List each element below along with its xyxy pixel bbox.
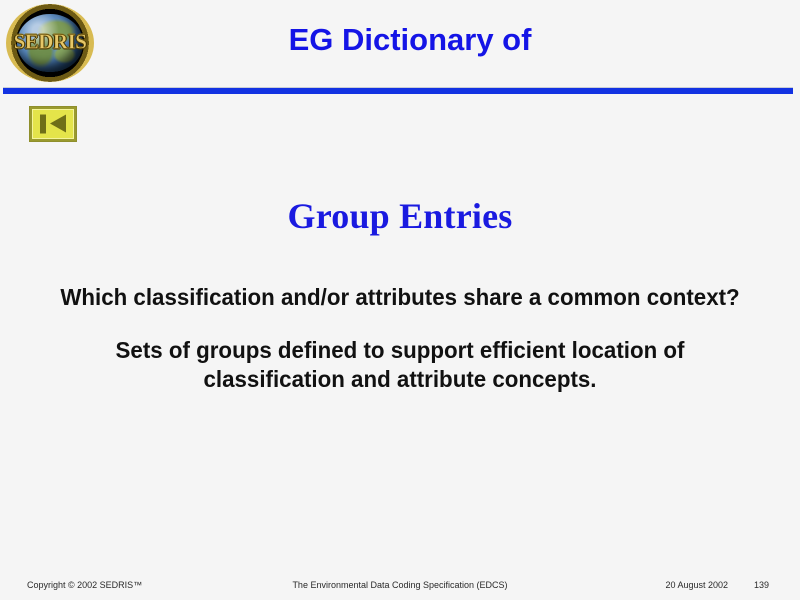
slide-canvas: SEDRIS EG Dictionary of Group Entries Wh… — [0, 0, 800, 600]
header-divider — [3, 87, 793, 94]
skip-back-icon — [39, 115, 67, 134]
slide-footer: Copyright © 2002 SEDRIS™ The Environment… — [0, 575, 800, 595]
sedris-globe-logo: SEDRIS — [6, 4, 94, 82]
page-title: EG Dictionary of — [110, 22, 710, 58]
logo-wordmark: SEDRIS — [6, 30, 94, 55]
footer-date: 20 August 2002 — [665, 579, 728, 591]
skip-back-icon-bar — [40, 115, 46, 134]
skip-back-icon-triangle — [50, 115, 66, 133]
slide-header: SEDRIS EG Dictionary of — [0, 0, 800, 88]
section-heading: Group Entries — [0, 150, 800, 237]
body-paragraph: Which classification and/or attributes s… — [48, 237, 752, 312]
body-paragraph: Sets of groups defined to support effici… — [48, 312, 752, 394]
slide-body: Group Entries Which classification and/o… — [0, 150, 800, 394]
footer-page-number: 139 — [754, 579, 769, 591]
previous-slide-button[interactable] — [30, 107, 76, 141]
